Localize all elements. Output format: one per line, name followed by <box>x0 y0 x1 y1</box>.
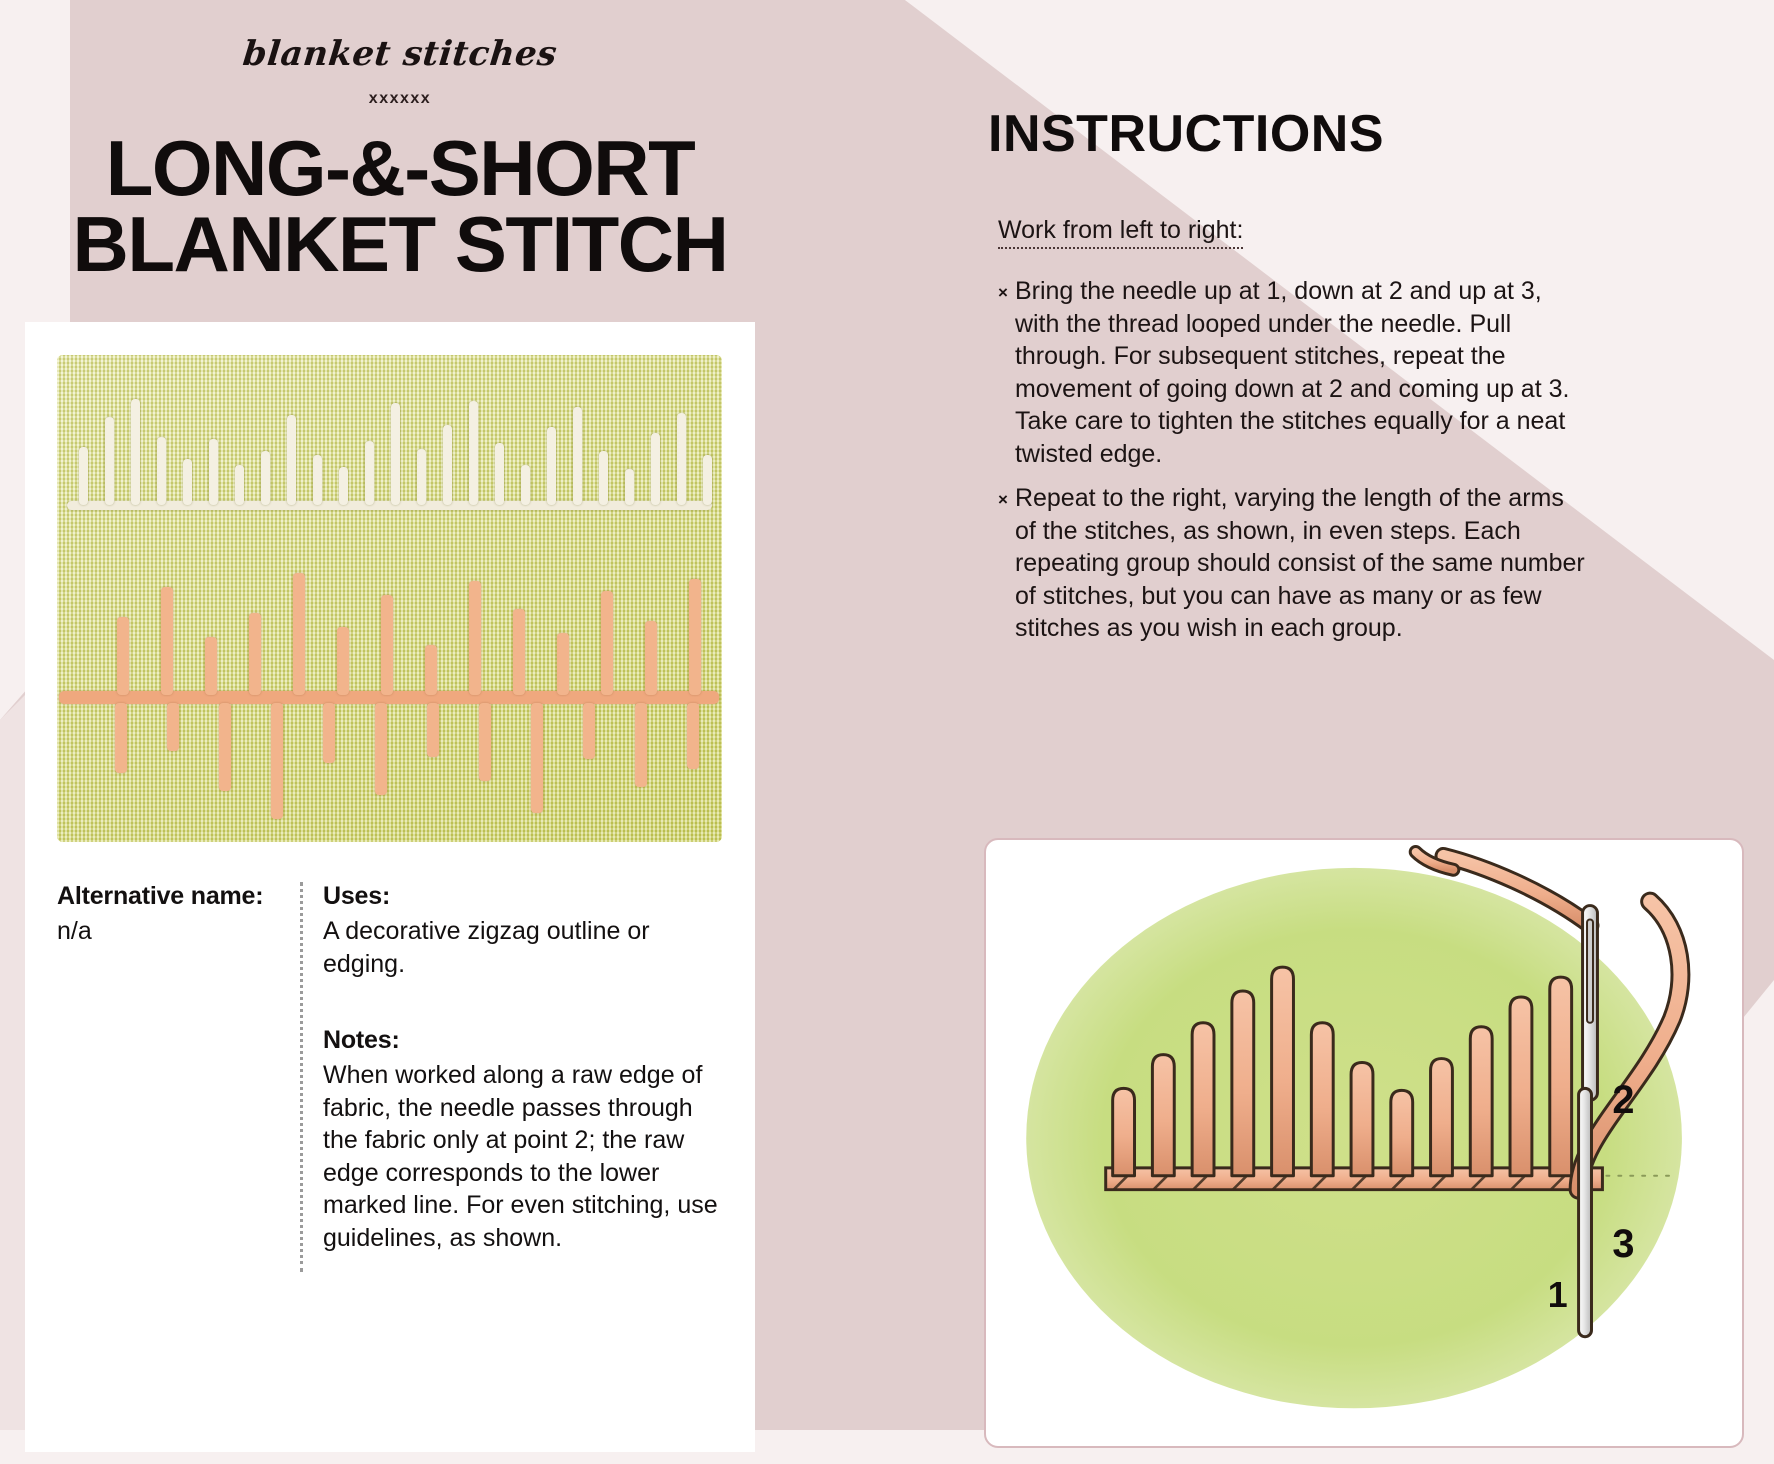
needle-at-point-3 <box>1579 1088 1592 1336</box>
stitch-lower-arm <box>479 703 491 781</box>
technique-diagram: 2 3 1 <box>986 840 1742 1446</box>
stitch-arm <box>469 401 478 505</box>
diagram-label-2: 2 <box>1612 1078 1634 1122</box>
stitch-arm <box>645 621 657 695</box>
page-title-line-2: BLANKET STITCH <box>40 206 760 282</box>
stitch-arm <box>235 465 244 505</box>
stitch-arm <box>1431 1059 1453 1176</box>
stitch-arm <box>1470 1027 1492 1176</box>
category-script-title: blanket stitches <box>0 34 802 74</box>
stitch-arm <box>365 441 374 505</box>
sample-card: Alternative name: n/a Uses: A decorative… <box>25 322 755 1452</box>
stitch-arm <box>601 591 613 695</box>
alternative-name-value: n/a <box>57 915 286 948</box>
stitch-arm <box>557 633 569 695</box>
instructions-body: Work from left to right: × Bring the nee… <box>998 216 1588 645</box>
stitch-arm <box>249 613 261 695</box>
stitch-arm <box>105 417 114 505</box>
stitch-arm <box>469 581 481 695</box>
stitch-arm <box>1550 977 1572 1176</box>
stitch-arm <box>625 469 634 505</box>
column-divider <box>300 882 303 1272</box>
uses-label: Uses: <box>323 882 722 911</box>
stitch-arm <box>161 587 173 695</box>
stitch-arm <box>261 451 270 505</box>
page-title: LONG-&-SHORT BLANKET STITCH <box>0 130 800 283</box>
stitch-lower-arm <box>219 703 231 791</box>
stitch-lower-arm <box>531 703 543 813</box>
stitch-arm <box>1232 991 1254 1176</box>
stitch-lower-arm <box>167 703 179 751</box>
stitch-arm <box>313 455 322 505</box>
stitch-arm <box>205 637 217 695</box>
technique-diagram-card: 2 3 1 <box>984 838 1744 1448</box>
stitch-arm <box>573 407 582 505</box>
section-spacer <box>323 980 722 1026</box>
stitch-arm <box>417 449 426 505</box>
instructions-section: INSTRUCTIONS Work from left to right: × … <box>1010 104 1710 645</box>
stitch-lower-arm <box>583 703 595 759</box>
stitch-arm <box>689 579 701 695</box>
stitch-arm <box>703 455 712 505</box>
cross-stitch-decoration: xxxxxx <box>0 90 800 108</box>
uses-notes-column: Uses: A decorative zigzag outline or edg… <box>323 882 722 1272</box>
stitch-arm <box>1311 1023 1333 1176</box>
cross-bullet-icon: × <box>998 275 1008 301</box>
stitch-arm <box>1351 1063 1373 1176</box>
page-header: blanket stitches xxxxxx LONG-&-SHORT BLA… <box>0 0 800 283</box>
stitch-arm <box>337 627 349 695</box>
stitch-arm <box>117 617 129 695</box>
stitch-lower-arm <box>375 703 387 795</box>
needle-at-point-2 <box>1583 906 1598 1101</box>
stitch-arm <box>79 447 88 505</box>
notes-label: Notes: <box>323 1026 722 1055</box>
stitch-lower-arm <box>635 703 647 787</box>
stitch-lower-arm <box>271 703 283 819</box>
diagram-label-1: 1 <box>1548 1275 1568 1315</box>
stitch-arm <box>1192 1023 1214 1176</box>
instruction-bullet: × Bring the needle up at 1, down at 2 an… <box>998 275 1588 470</box>
cross-bullet-icon: × <box>998 482 1008 508</box>
stitch-arm <box>381 595 393 695</box>
stitch-arm <box>1272 967 1294 1176</box>
instruction-bullet-text: Bring the needle up at 1, down at 2 and … <box>1015 275 1588 470</box>
uses-value: A decorative zigzag outline or edging. <box>323 915 722 980</box>
stitch-arm <box>157 437 166 505</box>
stitch-arm <box>1113 1088 1135 1175</box>
stitch-arm <box>131 399 140 505</box>
alternative-name-column: Alternative name: n/a <box>57 882 300 1272</box>
stitch-arm <box>521 465 530 505</box>
stitch-reference-page: blanket stitches xxxxxx LONG-&-SHORT BLA… <box>0 0 1774 1464</box>
stitch-arm <box>547 427 556 505</box>
info-table: Alternative name: n/a Uses: A decorative… <box>57 882 722 1272</box>
stitch-arm <box>513 609 525 695</box>
page-title-line-1: LONG-&-SHORT <box>106 124 695 212</box>
stitch-lower-arm <box>323 703 335 763</box>
instruction-bullet-text: Repeat to the right, varying the length … <box>1015 482 1588 645</box>
stitch-arm <box>293 573 305 695</box>
stitch-sample-photo <box>57 355 722 842</box>
stitch-lower-arm <box>115 703 127 773</box>
stitch-arm <box>287 415 296 505</box>
stitch-arm <box>443 425 452 505</box>
stitch-arm <box>391 403 400 505</box>
instruction-bullet: × Repeat to the right, varying the lengt… <box>998 482 1588 645</box>
stitch-arm <box>339 467 348 505</box>
stitch-arm <box>1152 1055 1174 1176</box>
stitch-arm <box>425 645 437 695</box>
stitch-lower-arm <box>427 703 439 757</box>
notes-value: When worked along a raw edge of fabric, … <box>323 1059 722 1254</box>
instructions-heading: INSTRUCTIONS <box>988 104 1710 164</box>
stitch-arm <box>1510 997 1532 1176</box>
stitch-arm <box>495 443 504 505</box>
diagram-label-3: 3 <box>1612 1222 1634 1266</box>
stitch-lower-arm <box>687 703 699 769</box>
stitch-arm <box>1391 1090 1413 1175</box>
alternative-name-label: Alternative name: <box>57 882 286 911</box>
work-direction-label: Work from left to right: <box>998 216 1243 249</box>
stitch-arm <box>599 451 608 505</box>
stitch-arm <box>677 413 686 505</box>
stitch-arm <box>183 459 192 505</box>
stitch-arm <box>209 439 218 505</box>
stitch-arm <box>651 433 660 505</box>
